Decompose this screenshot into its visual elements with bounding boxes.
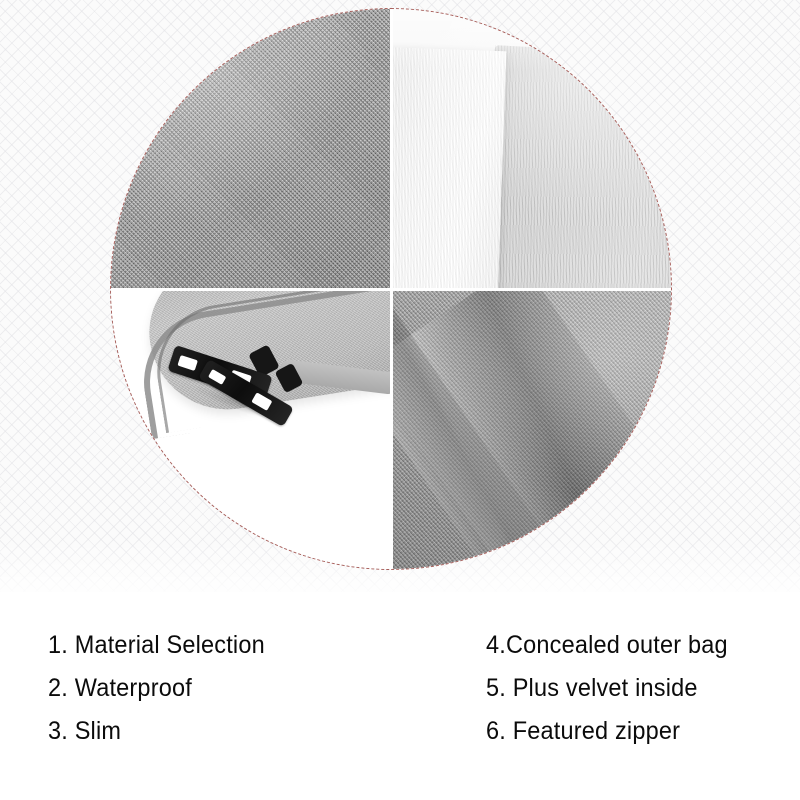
fabric-shading-overlay bbox=[111, 9, 390, 288]
feature-item-1: 1. Material Selection bbox=[48, 624, 265, 667]
feature-list-left-column: 1. Material Selection 2. Waterproof 3. S… bbox=[48, 624, 279, 753]
quadrant-material-selection bbox=[111, 9, 390, 288]
fabric-lighting-overlay bbox=[392, 290, 671, 569]
product-feature-page: 1. Material Selection 2. Waterproof 3. S… bbox=[0, 0, 800, 800]
feature-item-2: 2. Waterproof bbox=[48, 667, 265, 710]
feature-item-6: 6. Featured zipper bbox=[486, 710, 728, 753]
zipper-pull-slot bbox=[177, 355, 198, 371]
zipper-pull-slot bbox=[208, 369, 226, 385]
feature-item-5: 5. Plus velvet inside bbox=[486, 667, 728, 710]
quadrant-concealed-outer-bag bbox=[392, 290, 671, 569]
quadrant-featured-zipper bbox=[111, 290, 390, 569]
zipper-pull-slot bbox=[251, 392, 272, 411]
feature-item-3: 3. Slim bbox=[48, 710, 265, 753]
feature-list: 1. Material Selection 2. Waterproof 3. S… bbox=[0, 624, 800, 784]
velvet-vignette bbox=[392, 9, 671, 288]
feature-list-right-column: 4.Concealed outer bag 5. Plus velvet ins… bbox=[486, 624, 743, 753]
collage-photo-circle bbox=[111, 9, 671, 569]
feature-item-4: 4.Concealed outer bag bbox=[486, 624, 728, 667]
circular-collage bbox=[110, 8, 672, 570]
quadrant-velvet-inside bbox=[392, 9, 671, 288]
quadrant-divider-horizontal bbox=[111, 288, 671, 291]
